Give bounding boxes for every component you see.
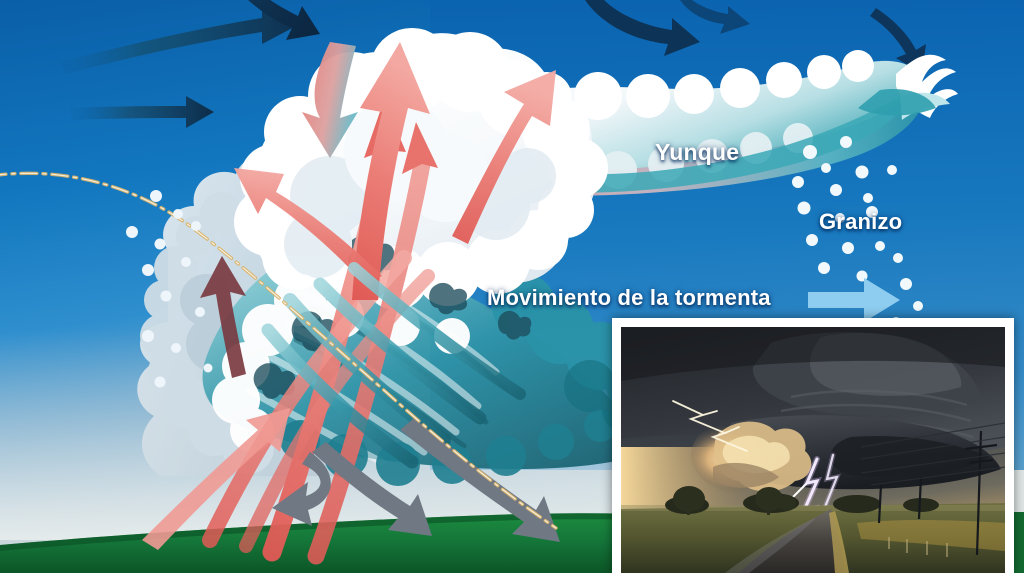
label-storm-motion: Movimiento de la tormenta <box>487 285 771 311</box>
label-hail: Granizo <box>819 209 902 235</box>
storm-motion-arrow <box>808 278 900 322</box>
storm-diagram-canvas: Yunque Granizo Movimiento de la tormenta <box>0 0 1024 573</box>
supercell-photo-illustration <box>621 327 1005 573</box>
label-anvil: Yunque <box>655 139 739 166</box>
inset-photograph <box>621 327 1005 573</box>
inset-photo-frame <box>612 318 1014 573</box>
